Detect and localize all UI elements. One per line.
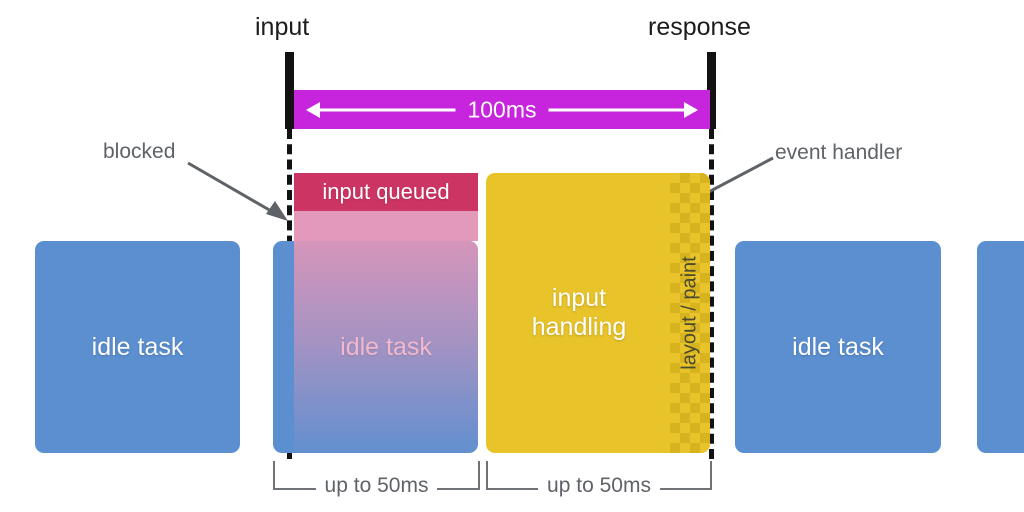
idle-task-label-1: idle task bbox=[92, 333, 184, 362]
bracket-label-1: up to 50ms bbox=[316, 475, 438, 496]
callout-label-event-handler: event handler bbox=[775, 142, 902, 163]
idle-task-box-1: idle task bbox=[35, 241, 240, 453]
latency-duration-label: 100ms bbox=[455, 98, 548, 121]
bracket-handling-budget: up to 50ms bbox=[486, 461, 712, 490]
idle-task-box-3: idle task bbox=[735, 241, 941, 453]
arrow-left-icon bbox=[306, 102, 320, 118]
input-queued-label: input queued bbox=[322, 179, 449, 205]
marker-label-response: response bbox=[648, 15, 751, 40]
idle-task-label-3: idle task bbox=[792, 333, 884, 362]
diagram-canvas: input response 100ms blocked event handl… bbox=[0, 0, 1024, 512]
marker-label-input: input bbox=[255, 15, 309, 40]
idle-task-label-2: idle task bbox=[294, 241, 478, 453]
callout-arrow-blocked bbox=[180, 155, 300, 230]
input-handling-label: input handling bbox=[486, 173, 672, 453]
input-queued-pink-wash bbox=[294, 211, 478, 241]
input-marker-tick bbox=[285, 52, 294, 129]
bracket-idle-budget: up to 50ms bbox=[273, 461, 480, 490]
input-queued-bar: input queued bbox=[294, 173, 478, 211]
arrow-right-icon bbox=[684, 102, 698, 118]
input-handling-box: input handling layout / paint bbox=[486, 173, 710, 453]
layout-paint-strip: layout / paint bbox=[670, 173, 710, 453]
input-handling-label-line2: handling bbox=[532, 313, 627, 343]
callout-label-blocked: blocked bbox=[103, 141, 175, 162]
layout-paint-label: layout / paint bbox=[680, 256, 700, 369]
input-handling-label-line1: input bbox=[552, 284, 606, 314]
bracket-label-2: up to 50ms bbox=[538, 475, 660, 496]
latency-bar: 100ms bbox=[294, 90, 710, 129]
idle-task-box-4 bbox=[977, 241, 1024, 453]
